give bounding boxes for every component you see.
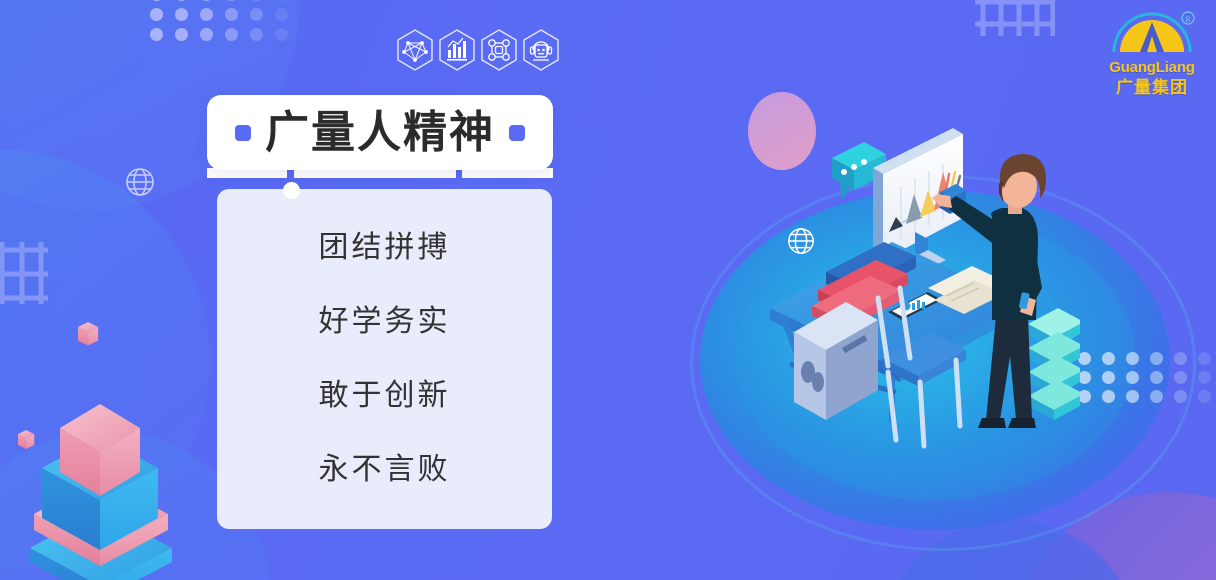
svg-text:R: R bbox=[1185, 15, 1191, 24]
network-graph-icon[interactable] bbox=[396, 28, 434, 72]
company-logo[interactable]: R GuangLiang 广量集团 bbox=[1098, 6, 1206, 97]
page-title: 广量人精神 bbox=[265, 111, 495, 155]
hex-icon-row bbox=[396, 28, 560, 72]
logo-name-en: GuangLiang bbox=[1098, 60, 1206, 77]
logo-name-cn: 广量集团 bbox=[1098, 78, 1206, 98]
slogan-item-4: 永不言败 bbox=[319, 455, 451, 485]
slogan-panel: 团结拼搏 好学务实 敢于创新 永不言败 bbox=[217, 189, 552, 529]
dot-grid-top bbox=[150, 0, 293, 41]
decor-cube-stack bbox=[0, 300, 200, 580]
line-grid-right bbox=[975, 0, 1055, 36]
banner-stage: 广量人精神 团结拼搏 好学务实 敢于创新 永不言败 bbox=[0, 0, 1216, 580]
title-square-right bbox=[509, 125, 525, 141]
slogan-item-1: 团结拼搏 bbox=[319, 233, 451, 263]
nodes-cluster-icon[interactable] bbox=[480, 28, 518, 72]
slogan-item-3: 敢于创新 bbox=[319, 381, 451, 411]
panel-marker-dot bbox=[283, 182, 300, 199]
logo-mark: R bbox=[1098, 6, 1206, 59]
dot-grid-servers bbox=[1078, 352, 1216, 403]
title-square-left bbox=[235, 125, 251, 141]
ai-headset-icon[interactable] bbox=[522, 28, 560, 72]
line-grid-left bbox=[0, 242, 48, 304]
globe-icon-left bbox=[124, 166, 156, 203]
slogan-item-2: 好学务实 bbox=[319, 307, 451, 337]
office-illustration bbox=[760, 120, 1080, 450]
banner-title-card: 广量人精神 bbox=[207, 95, 553, 170]
bar-chart-icon[interactable] bbox=[438, 28, 476, 72]
server-rack bbox=[1028, 308, 1080, 420]
registered-mark: R bbox=[1182, 12, 1194, 24]
